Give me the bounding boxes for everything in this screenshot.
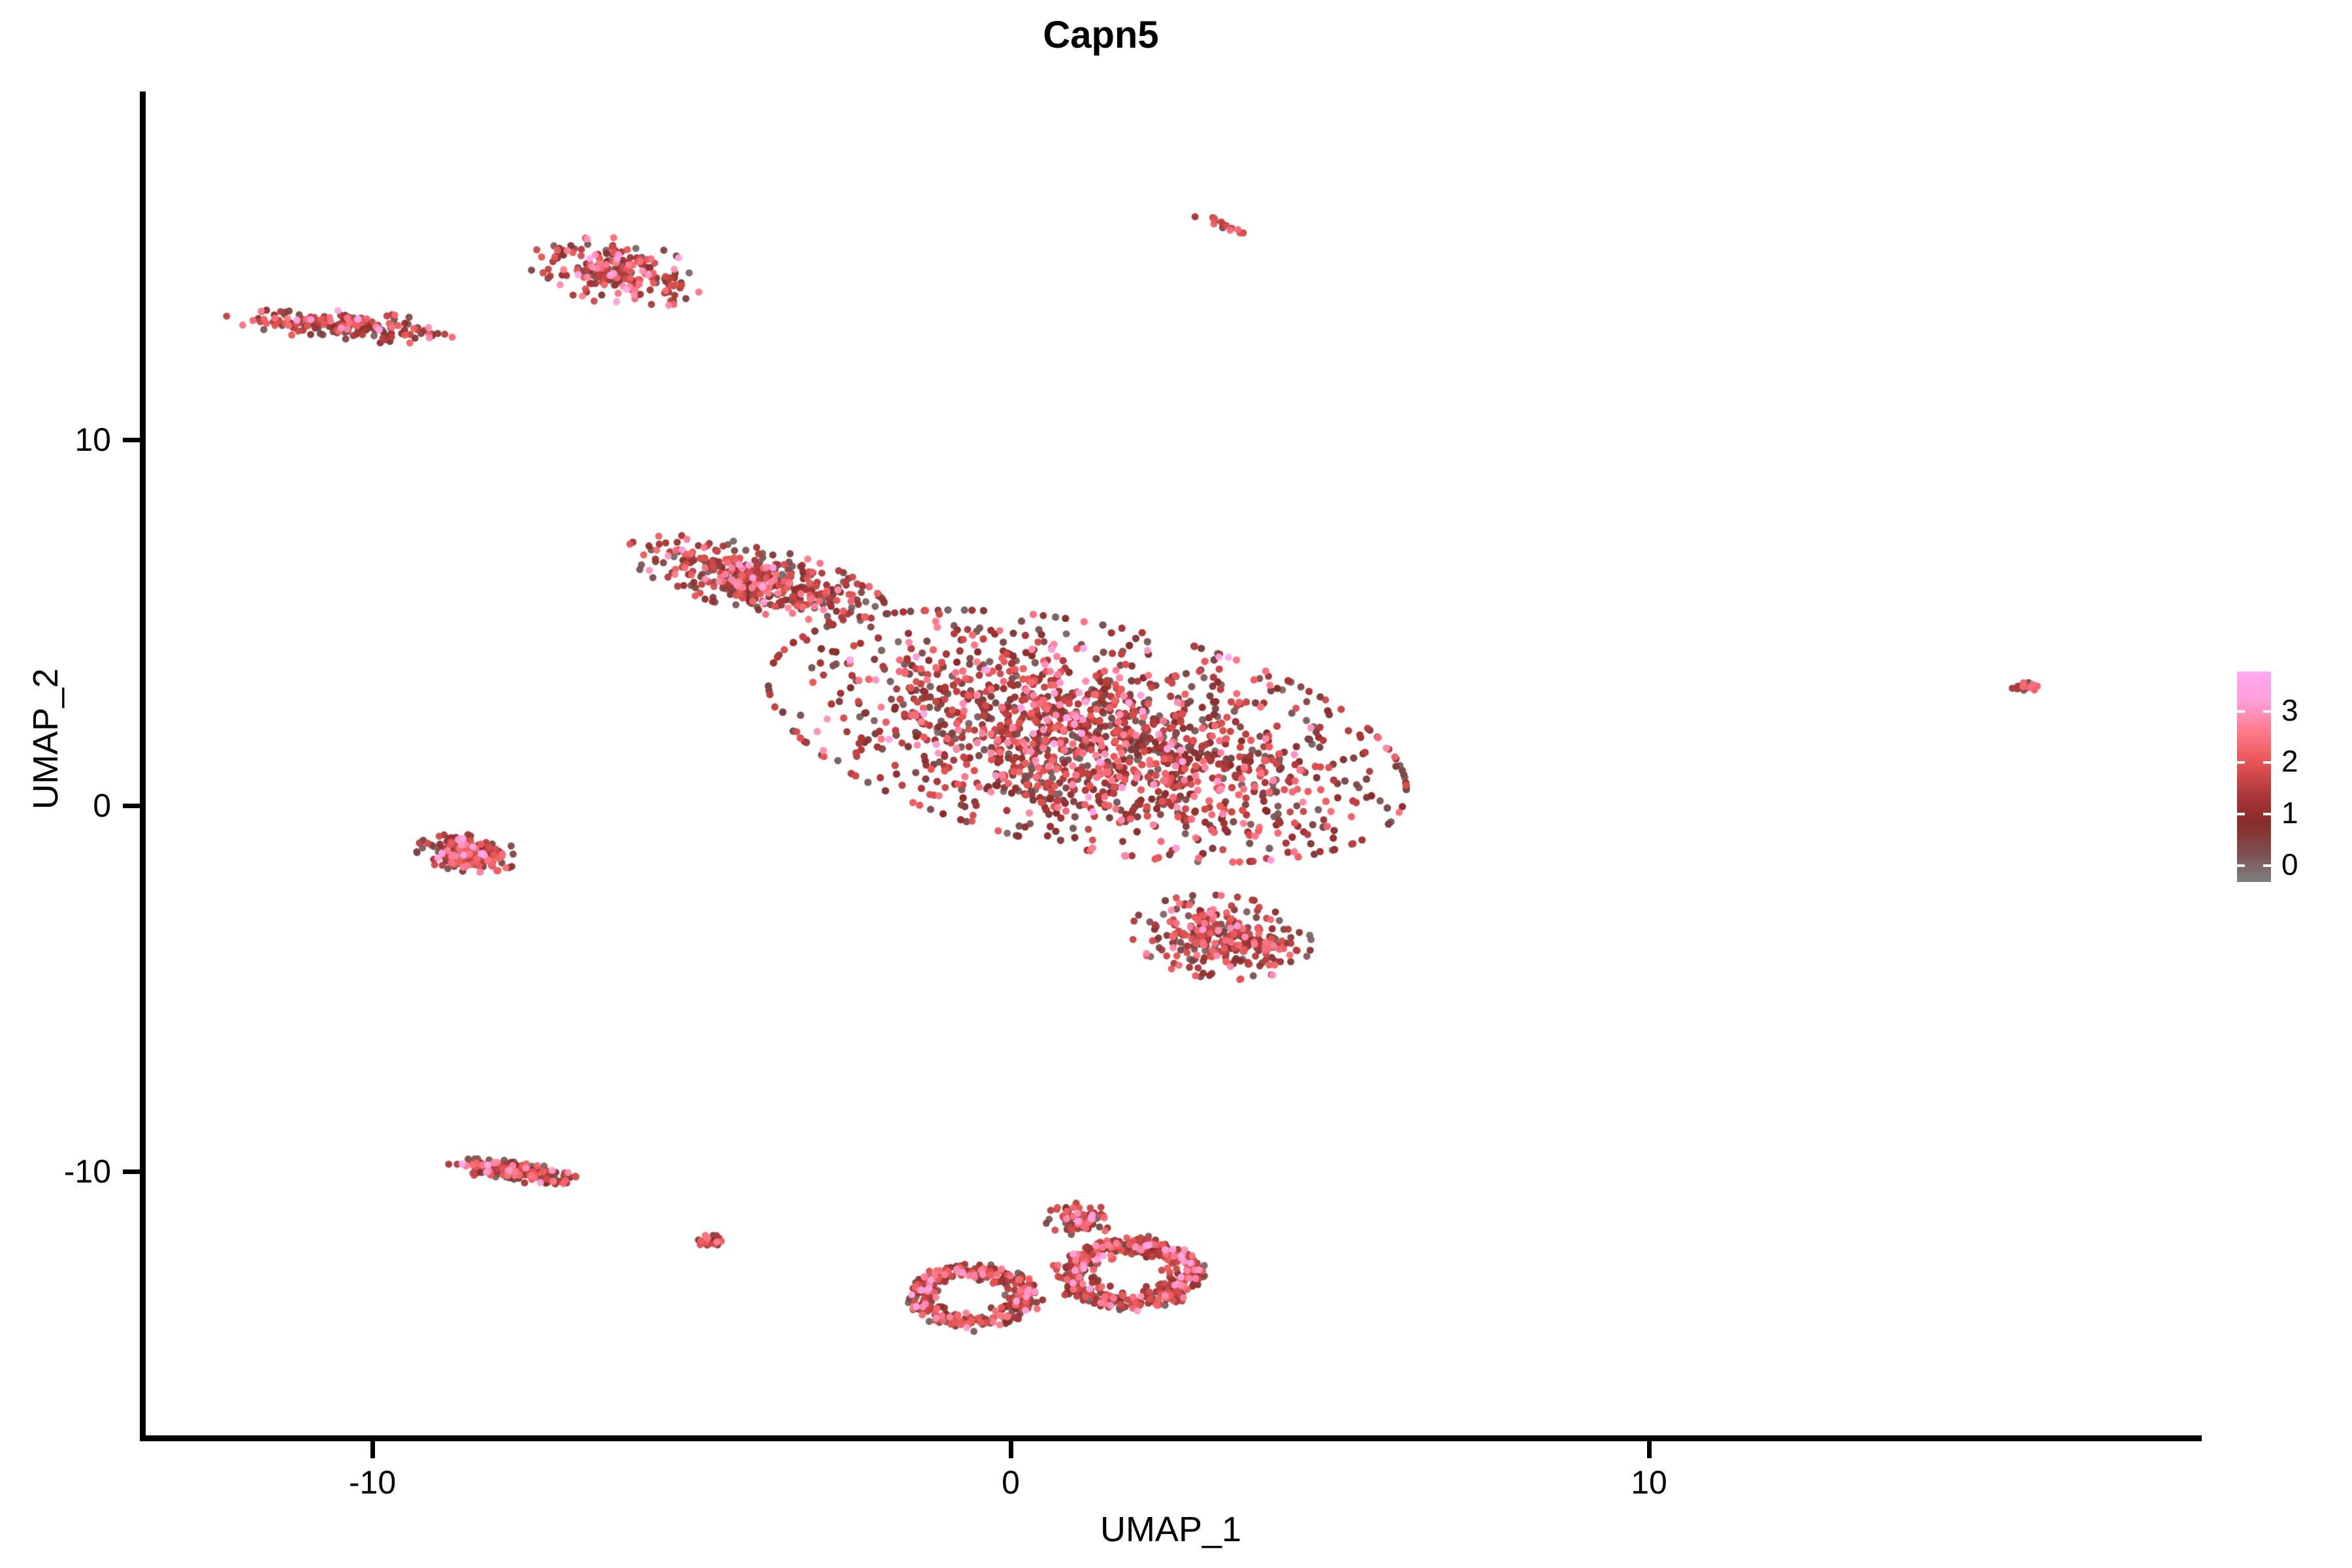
colorbar-tick-label: 1 (2281, 795, 2298, 830)
colorbar-tick (2263, 864, 2271, 867)
x-tick-label: 10 (1631, 1463, 1667, 1501)
colorbar-tick (2237, 864, 2245, 867)
page-title: Capn5 (0, 13, 2202, 57)
x-axis-title: UMAP_1 (140, 1509, 2202, 1550)
y-tick-mark (123, 804, 140, 808)
x-tick-label: 0 (1002, 1463, 1020, 1501)
umap-feature-plot: Capn5 -10 0 10 10 0 -10 UMAP_1 UMAP_2 3 … (0, 0, 2352, 1568)
x-tick-mark (1647, 1441, 1652, 1458)
y-tick-label: 0 (93, 787, 111, 825)
colorbar-tick-label: 0 (2281, 847, 2298, 882)
y-axis-title: UMAP_2 (25, 412, 66, 1066)
x-tick-mark (370, 1441, 375, 1458)
y-tick-label: -10 (64, 1152, 111, 1190)
colorbar-gradient (2237, 672, 2271, 882)
colorbar-tick (2237, 813, 2245, 815)
scatter-points-canvas (0, 0, 2352, 1568)
x-tick-mark (1009, 1441, 1013, 1458)
y-tick-label: 10 (74, 421, 111, 459)
y-axis-line (140, 91, 146, 1441)
y-tick-mark (123, 1169, 140, 1174)
x-tick-label: -10 (349, 1463, 396, 1501)
colorbar-tick (2237, 761, 2245, 764)
colorbar-tick (2263, 761, 2271, 764)
colorbar-tick-label: 2 (2281, 743, 2298, 779)
colorbar-tick (2263, 710, 2271, 713)
colorbar-tick (2263, 813, 2271, 815)
colorbar-legend: 3 2 1 0 (2237, 672, 2271, 882)
colorbar-tick-label: 3 (2281, 693, 2298, 728)
x-axis-line (140, 1435, 2202, 1441)
y-tick-mark (123, 438, 140, 442)
colorbar-tick (2237, 710, 2245, 713)
plot-panel (144, 91, 2202, 1439)
